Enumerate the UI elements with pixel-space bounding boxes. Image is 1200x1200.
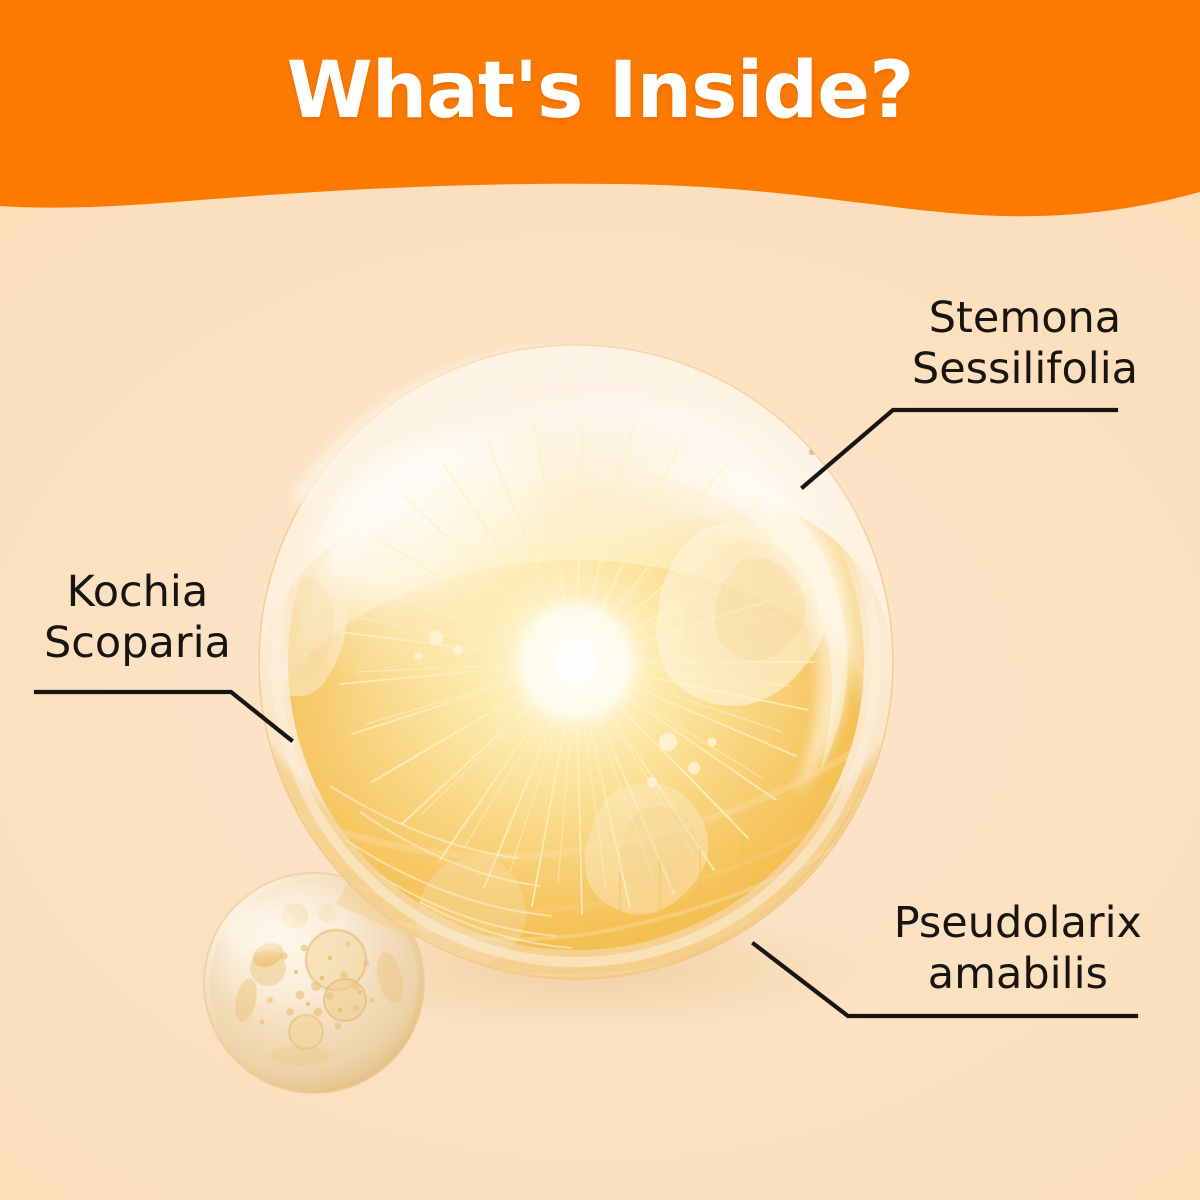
page-title: What's Inside? <box>0 0 1200 182</box>
callout-label-pseudolarix-line1: Pseudolarix <box>894 898 1142 949</box>
callout-label-pseudolarix: Pseudolarix amabilis <box>894 898 1142 999</box>
callout-label-stemona: Stemona Sessilifolia <box>912 293 1138 394</box>
callout-label-kochia: Kochia Scoparia <box>44 567 231 668</box>
leader-line-kochia <box>36 692 291 740</box>
infographic-canvas: What's Inside? Stemona Sessilifolia Koch… <box>0 0 1200 1200</box>
callout-label-pseudolarix-line2: amabilis <box>894 949 1142 1000</box>
callout-label-kochia-line1: Kochia <box>44 567 231 618</box>
header-banner: What's Inside? <box>0 0 1200 240</box>
leader-line-stemona <box>803 410 1116 487</box>
callout-label-stemona-line2: Sessilifolia <box>912 344 1138 395</box>
callout-label-stemona-line1: Stemona <box>912 293 1138 344</box>
callout-label-kochia-line2: Scoparia <box>44 618 231 669</box>
